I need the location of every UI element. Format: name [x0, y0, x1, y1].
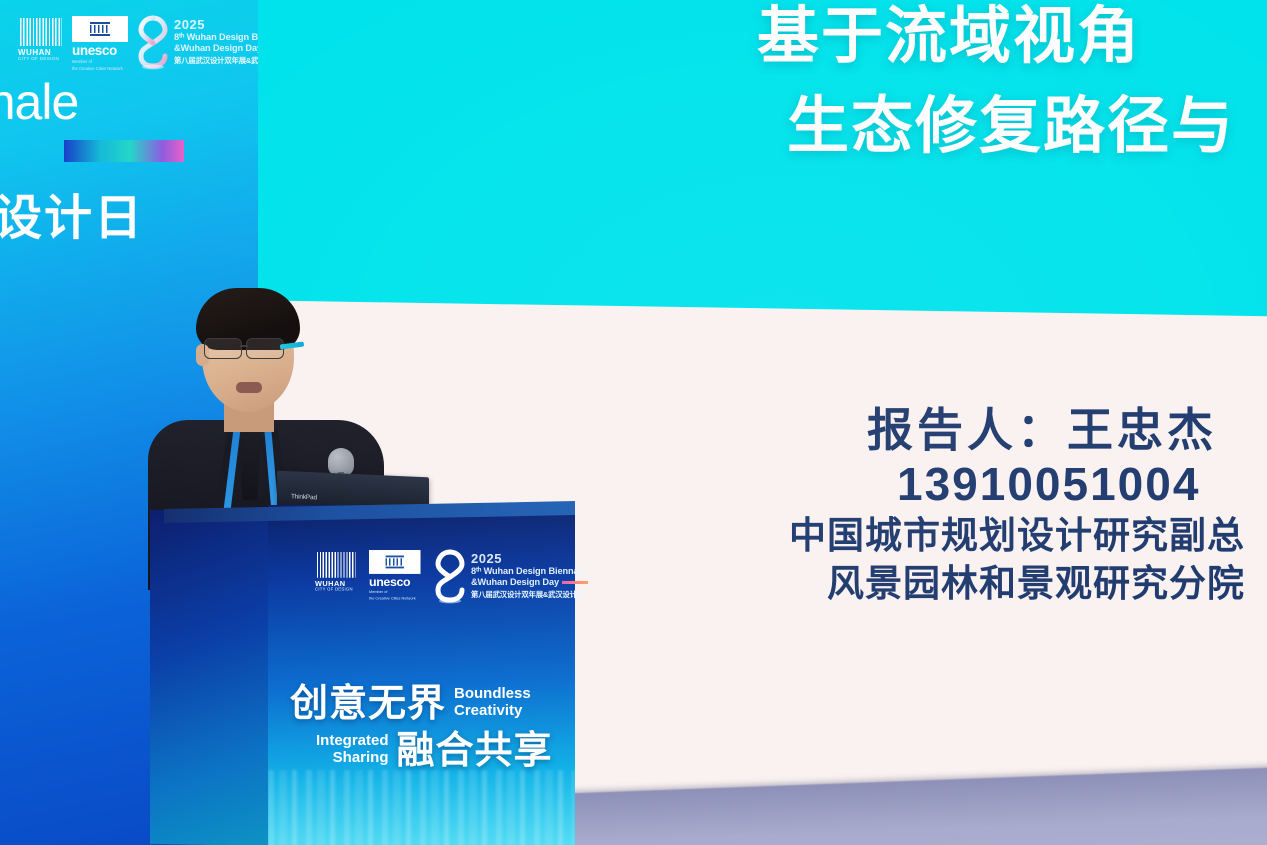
podium-event-cn: 第八届武汉设计双年展&武汉设计日 [471, 590, 583, 600]
banner-headline-cn: 武汉设计日 [0, 178, 144, 248]
podium-slogan-row2: Integrated Sharing 融合共享 [316, 732, 580, 770]
podium-logo-row: WUHAN CITY OF DESIGN unesco Member of th… [315, 550, 555, 606]
podium-slogan-en2-b: Sharing [333, 749, 389, 766]
podium-event-year: 2025 [471, 552, 583, 566]
podium-event-en2-text: &Wuhan Design Day [471, 577, 559, 587]
podium-wuhan-city-of-design-icon: WUHAN CITY OF DESIGN [315, 552, 357, 589]
speaker-glasses-icon [202, 338, 298, 358]
banner-logo-row: WUHAN CITY OF DESIGN unesco Member of th… [18, 16, 258, 74]
podium-slogan-row1: 创意无界 Boundless Creativity [290, 685, 580, 723]
banner-event-cn: 第八届武汉设计双年展&武汉设计日 [174, 56, 258, 66]
slide-title-line1: 基于流域视角 [757, 2, 1141, 71]
glasses-lens-left [204, 338, 242, 359]
unesco-temple-glyph [90, 22, 110, 36]
banner-event-en1: 8ᵗʰ Wuhan Design Biennale [174, 32, 258, 44]
podium-unesco-logo: unesco Member of the Creative Cities Net… [369, 550, 421, 598]
stage-scene: 基于流域视角 生态修复路径与 报告人：王忠杰 13910051004 中国城市规… [0, 0, 1267, 845]
unesco-sub-line2: the Creative Cities Network [72, 66, 128, 72]
slide-speaker-org2: 风景园林和景观研究分院 [767, 560, 1267, 609]
slide-title-line2: 生态修复路径与 [787, 82, 1267, 172]
unesco-logo: unesco Member of the Creative Cities Net… [72, 16, 128, 68]
podium-side-panel [150, 510, 272, 845]
podium-unesco-sub-line2: the Creative Cities Network [369, 596, 421, 601]
speaker-mouth [236, 382, 262, 393]
podium-slogan-en1-a: Boundless [454, 685, 531, 702]
wuhan-mark-line2: CITY OF DESIGN [18, 56, 59, 61]
podium-accent-dash-icon [562, 581, 588, 584]
podium-event-en1: 8ᵗʰ Wuhan Design Biennale [471, 566, 583, 578]
podium: WUHAN CITY OF DESIGN unesco Member of th… [150, 505, 575, 845]
podium-slogan-en1-b: Creativity [454, 702, 522, 719]
podium-slogan-cn2: 融合共享 [397, 732, 553, 770]
podium-unesco-wordmark: unesco [369, 575, 421, 589]
podium-unesco-sub-line1: Member of [369, 590, 421, 595]
wuhan-seal-glyph [20, 18, 62, 46]
laptop-brand-label: ThinkPad [291, 493, 317, 501]
banner-event-year: 2025 [174, 18, 258, 32]
glasses-lens-right [246, 338, 284, 359]
podium-infinity-eight-icon [433, 548, 467, 604]
banner-event-en2: &Wuhan Design Day [174, 43, 258, 55]
unesco-wordmark: unesco [72, 43, 128, 58]
podium-slogan-en1: Boundless Creativity [454, 686, 531, 723]
banner-event-text: 2025 8ᵗʰ Wuhan Design Biennale &Wuhan De… [174, 18, 258, 65]
slide-speaker-org1: 中国城市规划设计研究副总 [767, 512, 1267, 561]
wuhan-city-of-design-icon: WUHAN CITY OF DESIGN [18, 18, 64, 58]
podium-wuhan-seal-glyph [317, 552, 356, 578]
podium-wuhan-mark-line2: CITY OF DESIGN [315, 587, 353, 592]
slide-speaker-info: 报告人：王忠杰 13910051004 中国城市规划设计研究副总 风景园林和景观… [767, 403, 1267, 609]
podium-unesco-temple-glyph [386, 556, 404, 569]
infinity-eight-icon [136, 14, 170, 70]
unesco-sub-line1: Member of [72, 59, 128, 65]
podium-slogan-en2: Integrated Sharing [316, 733, 389, 770]
podium-slogan-cn1: 创意无界 [290, 685, 446, 723]
banner-headline: iennale ay 武汉设计日 [0, 78, 258, 176]
banner-event-en2-text: &Wuhan Design Day [174, 43, 258, 53]
podium-unesco-temple-icon [369, 550, 421, 574]
podium-event-text: 2025 8ᵗʰ Wuhan Design Biennale &Wuhan De… [471, 552, 583, 599]
banner-gradient-bar [64, 140, 184, 162]
unesco-temple-icon [72, 16, 128, 42]
slide-title: 基于流域视角 生态修复路径与 [757, 0, 1267, 172]
podium-slogan: 创意无界 Boundless Creativity Integrated Sha… [290, 685, 580, 770]
glasses-bridge [240, 345, 248, 347]
banner-headline-line1: iennale [0, 78, 258, 126]
podium-event-en2: &Wuhan Design Day [471, 577, 583, 589]
podium-slogan-en2-a: Integrated [316, 732, 389, 749]
slide-speaker-phone: 13910051004 [767, 457, 1267, 511]
slide-speaker-name: 报告人：王忠杰 [767, 403, 1267, 457]
